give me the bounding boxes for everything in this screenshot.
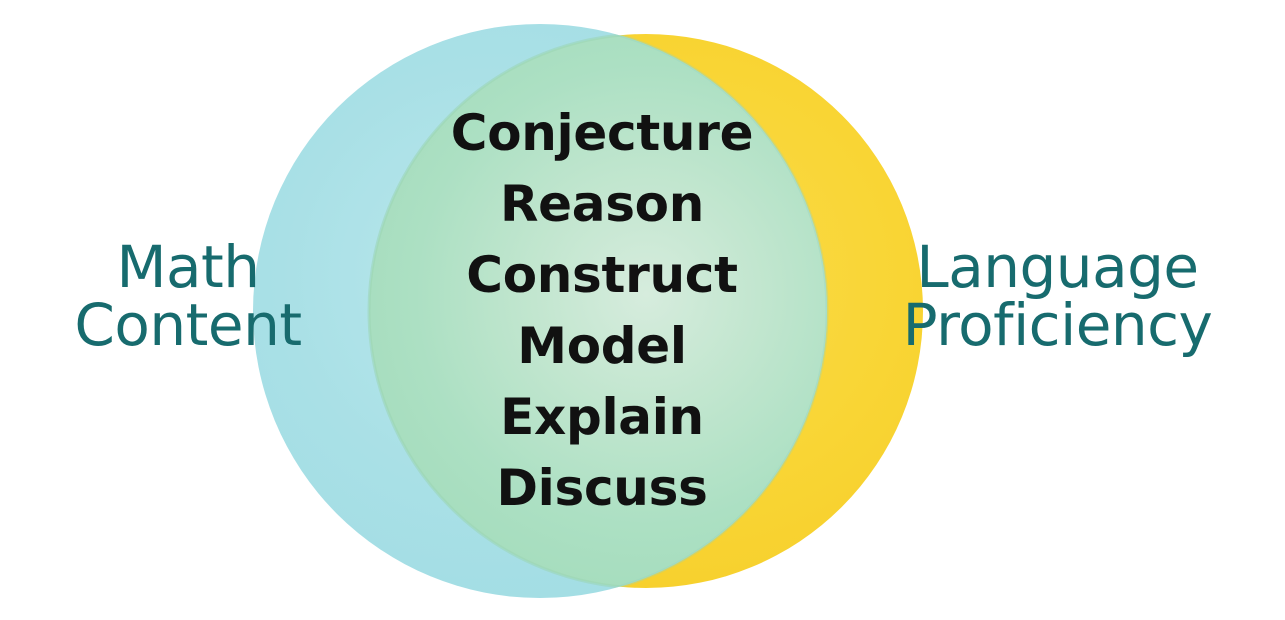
intersection-word: Conjecture: [402, 108, 802, 158]
intersection-word-list: Conjecture Reason Construct Model Explai…: [402, 108, 802, 513]
intersection-word: Construct: [402, 250, 802, 300]
intersection-word: Discuss: [402, 463, 802, 513]
set-label-math-content: Math Content: [18, 238, 358, 354]
venn-diagram-canvas: Math Content Language Proficiency Conjec…: [0, 0, 1285, 620]
set-label-language-proficiency: Language Proficiency: [845, 238, 1270, 354]
set-label-language-proficiency-line-1: Language: [845, 238, 1270, 296]
set-label-language-proficiency-line-2: Proficiency: [845, 296, 1270, 354]
intersection-word: Explain: [402, 392, 802, 442]
intersection-word: Reason: [402, 179, 802, 229]
set-label-math-content-line-2: Content: [18, 296, 358, 354]
intersection-word: Model: [402, 321, 802, 371]
set-label-math-content-line-1: Math: [18, 238, 358, 296]
